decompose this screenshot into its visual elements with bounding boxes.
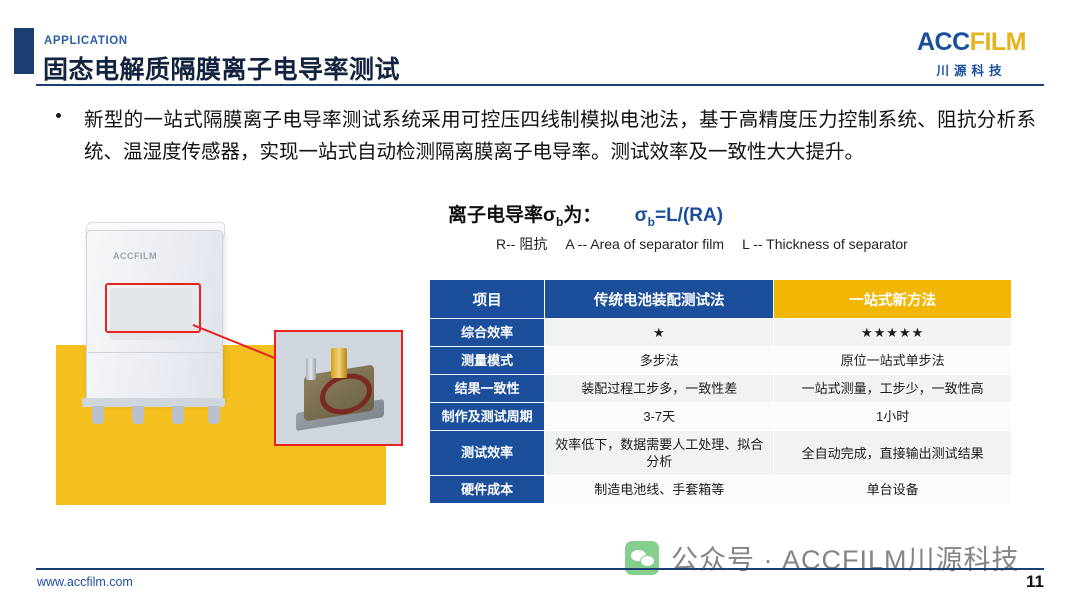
header-accent-bar [14, 28, 34, 74]
machine-foot [208, 406, 220, 424]
machine-foot [92, 406, 104, 424]
row-traditional-value: ★ [545, 319, 774, 347]
brand-logo: ACCFILM 川源科技 [899, 30, 1044, 79]
formula-equation-subscript: b [648, 215, 655, 229]
page-title: 固态电解质隔膜离子电导率测试 [43, 50, 400, 86]
machine-logo-label: ACCFILM [113, 251, 157, 261]
comparison-table: 项目 传统电池装配测试法 一站式新方法 综合效率 ★ ★★★★★ 测量模式 多步… [429, 279, 1012, 504]
table-header-traditional: 传统电池装配测试法 [545, 280, 774, 319]
logo-subtitle: 川源科技 [899, 60, 1044, 79]
table-row: 测试效率 效率低下，数据需要人工处理、拟合分析 全自动完成，直接输出测试结果 [430, 431, 1012, 476]
row-traditional-value: 效率低下，数据需要人工处理、拟合分析 [545, 431, 774, 476]
formula-equation: σb=L/(RA) [635, 205, 723, 229]
row-traditional-value: 装配过程工步多，一致性差 [545, 375, 774, 403]
row-new-value: 一站式测量，工步少，一致性高 [774, 375, 1012, 403]
fixture-gold-post [331, 348, 347, 378]
row-label: 综合效率 [430, 319, 545, 347]
row-traditional-value: 制造电池线、手套箱等 [545, 476, 774, 504]
table-row: 结果一致性 装配过程工步多，一致性差 一站式测量，工步少，一致性高 [430, 375, 1012, 403]
logo-wordmark-prefix: ACC [917, 28, 970, 56]
footer-divider [36, 568, 1044, 570]
table-row: 综合效率 ★ ★★★★★ [430, 319, 1012, 347]
bullet-paragraph: 新型的一站式隔膜离子电导率测试系统采用可控压四线制模拟电池法，基于高精度压力控制… [56, 104, 1036, 168]
footer-website-url[interactable]: www.accfilm.com [37, 575, 133, 589]
product-photo: ACCFILM [36, 220, 426, 520]
formula-legend-a: A -- Area of separator film [565, 236, 724, 252]
formula-legend-l: L -- Thickness of separator [742, 236, 908, 252]
row-new-value: 原位一站式单步法 [774, 347, 1012, 375]
row-label: 测量模式 [430, 347, 545, 375]
row-label: 结果一致性 [430, 375, 545, 403]
formula-label: 离子电导率σ [448, 205, 556, 226]
bullet-point-icon [56, 113, 61, 118]
header-kicker: APPLICATION [44, 35, 128, 47]
fixture-silver-post [306, 358, 316, 380]
row-new-value: 1小时 [774, 403, 1012, 431]
wechat-watermark-text: 公众号 · ACCFILM川源科技 [671, 538, 1020, 577]
slide-header: APPLICATION 固态电解质隔膜离子电导率测试 ACCFILM 川源科技 [0, 0, 1080, 86]
machine-foot [172, 406, 184, 424]
formula-equation-tail: =L/(RA) [655, 205, 723, 226]
row-traditional-value: 多步法 [545, 347, 774, 375]
machine-foot [132, 406, 144, 424]
formula-legend: R-- 阻抗A -- Area of separator filmL -- Th… [496, 234, 1048, 254]
bullet-text: 新型的一站式隔膜离子电导率测试系统采用可控压四线制模拟电池法，基于高精度压力控制… [84, 104, 1036, 168]
table-header-row: 项目 传统电池装配测试法 一站式新方法 [430, 280, 1012, 319]
row-traditional-value: 3-7天 [545, 403, 774, 431]
row-label: 硬件成本 [430, 476, 545, 504]
table-header: 项目 传统电池装配测试法 一站式新方法 [430, 280, 1012, 319]
formula-block: 离子电导率σb为： σb=L/(RA) R-- 阻抗A -- Area of s… [448, 200, 1048, 254]
table-header-item: 项目 [430, 280, 545, 319]
row-new-value: 全自动完成，直接输出测试结果 [774, 431, 1012, 476]
row-new-value: ★★★★★ [774, 319, 1012, 347]
table-row: 硬件成本 制造电池线、手套箱等 单台设备 [430, 476, 1012, 504]
table-header-new-method: 一站式新方法 [774, 280, 1012, 319]
logo-wordmark-suffix: FILM [970, 28, 1026, 56]
table-row: 制作及测试周期 3-7天 1小时 [430, 403, 1012, 431]
formula-label-tail: 为： [563, 205, 601, 226]
page-number: 11 [1026, 572, 1044, 592]
formula-legend-r: R-- 阻抗 [496, 236, 547, 252]
header-divider [36, 84, 1044, 86]
highlight-rectangle [105, 283, 201, 333]
row-new-value: 单台设备 [774, 476, 1012, 504]
row-label: 制作及测试周期 [430, 403, 545, 431]
machine-seam-line [88, 352, 219, 353]
table-row: 测量模式 多步法 原位一站式单步法 [430, 347, 1012, 375]
logo-wordmark: ACCFILM [899, 30, 1044, 55]
wechat-watermark: 公众号 · ACCFILM川源科技 [625, 538, 1020, 577]
formula-headline: 离子电导率σb为： σb=L/(RA) [448, 200, 1048, 229]
table-body: 综合效率 ★ ★★★★★ 测量模式 多步法 原位一站式单步法 结果一致性 装配过… [430, 319, 1012, 504]
row-label: 测试效率 [430, 431, 545, 476]
formula-equation-sigma: σ [635, 205, 648, 226]
fixture-inset-photo [274, 330, 403, 446]
